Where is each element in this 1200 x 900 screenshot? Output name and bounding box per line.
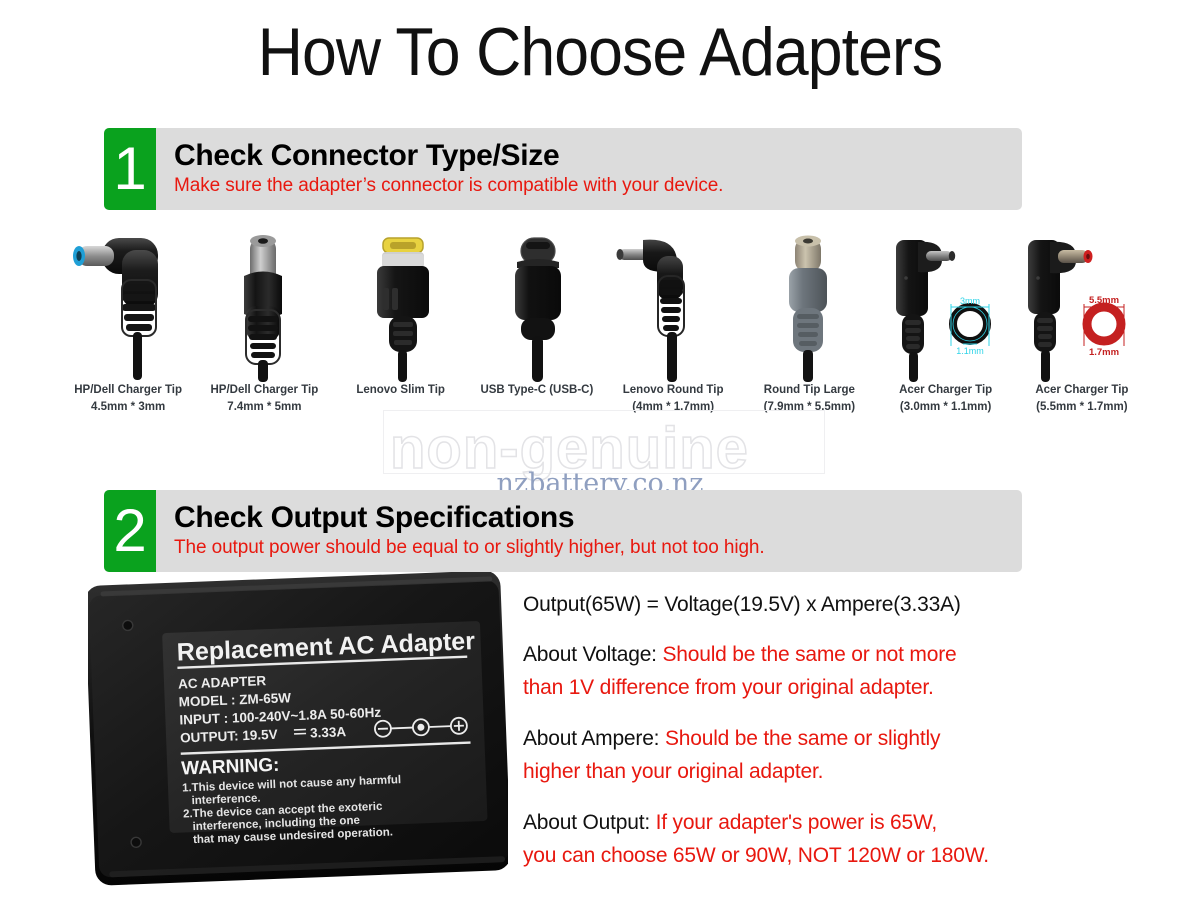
connector-label-name: HP/Dell Charger Tip bbox=[74, 382, 182, 399]
step-1-header: 1 Check Connector Type/Size Make sure th… bbox=[104, 128, 1022, 210]
connector-label-size: (5.5mm * 1.7mm) bbox=[1036, 399, 1127, 416]
hp-dell-blue-tip-icon bbox=[60, 232, 196, 382]
svg-text:3mm: 3mm bbox=[960, 296, 980, 306]
connector-item-acer-3_0[interactable]: 3mm 1.1mm Acer Charger Tip (3.0mm * 1.1m… bbox=[878, 232, 1014, 442]
step-2-text: Check Output Specifications The output p… bbox=[156, 490, 765, 572]
step-2-header: 2 Check Output Specifications The output… bbox=[104, 490, 1022, 572]
step-1-number-badge: 1 bbox=[104, 128, 156, 210]
connector-label-name: Acer Charger Tip bbox=[1035, 382, 1128, 399]
output-equation: Output(65W) = Voltage(19.5V) x Ampere(3.… bbox=[523, 590, 1183, 620]
page-title: How To Choose Adapters bbox=[48, 12, 1152, 92]
adapter-warning-heading: WARNING: bbox=[181, 755, 280, 780]
connector-label-size: (7.9mm * 5.5mm) bbox=[764, 399, 855, 416]
spec-voltage-line2: than 1V difference from your original ad… bbox=[523, 676, 934, 699]
connector-label-size: 7.4mm * 5mm bbox=[227, 399, 301, 416]
connector-label-name: USB Type-C (USB-C) bbox=[480, 382, 593, 399]
step-2-subtitle: The output power should be equal to or s… bbox=[174, 535, 765, 561]
adapter-line-output-amp: 3.33A bbox=[310, 724, 347, 740]
round-tip-large-gray-icon bbox=[741, 232, 877, 382]
connector-item-usb-c[interactable]: USB Type-C (USB-C) bbox=[469, 232, 605, 442]
svg-text:5.5mm: 5.5mm bbox=[1089, 295, 1119, 306]
spec-output-line2: you can choose 65W or 90W, NOT 120W or 1… bbox=[523, 844, 989, 867]
spec-about-voltage: About Voltage: Should be the same or not… bbox=[523, 638, 1183, 704]
step-2-number-badge: 2 bbox=[104, 490, 156, 572]
spec-ampere-line2: higher than your original adapter. bbox=[523, 760, 823, 783]
ac-adapter-photo: Replacement AC Adapter AC ADAPTER MODEL … bbox=[88, 572, 508, 892]
connector-label-name: HP/Dell Charger Tip bbox=[210, 382, 318, 399]
svg-text:1.1mm: 1.1mm bbox=[956, 346, 984, 356]
hp-dell-barrel-tip-icon bbox=[196, 232, 332, 382]
connector-item-lenovo-round[interactable]: Lenovo Round Tip (4mm * 1.7mm) bbox=[605, 232, 741, 442]
acer-angled-tip-icon: 3mm 1.1mm bbox=[878, 232, 1014, 382]
svg-text:1.7mm: 1.7mm bbox=[1089, 347, 1119, 358]
lenovo-slim-rectangular-tip-icon bbox=[333, 232, 469, 382]
connector-gallery: HP/Dell Charger Tip 4.5mm * 3mm bbox=[60, 232, 1150, 442]
spec-about-output: About Output: If your adapter's power is… bbox=[523, 806, 1183, 872]
connector-label-size: (3.0mm * 1.1mm) bbox=[900, 399, 991, 416]
connector-label-size: (4mm * 1.7mm) bbox=[632, 399, 714, 416]
spec-voltage-lead: About Voltage: bbox=[523, 643, 662, 666]
connector-item-round-large[interactable]: Round Tip Large (7.9mm * 5.5mm) bbox=[741, 232, 877, 442]
connector-label-name: Lenovo Round Tip bbox=[623, 382, 724, 399]
connector-label-size: 4.5mm * 3mm bbox=[91, 399, 165, 416]
step-1-title: Check Connector Type/Size bbox=[174, 139, 723, 173]
connector-label-name: Round Tip Large bbox=[764, 382, 855, 399]
connector-label-name: Lenovo Slim Tip bbox=[356, 382, 445, 399]
spec-ampere-line1: Should be the same or slightly bbox=[665, 727, 940, 750]
spec-ampere-lead: About Ampere: bbox=[523, 727, 665, 750]
step-1-text: Check Connector Type/Size Make sure the … bbox=[156, 128, 723, 210]
spec-about-ampere: About Ampere: Should be the same or slig… bbox=[523, 722, 1183, 788]
connector-item-hp-dell-7_4[interactable]: HP/Dell Charger Tip 7.4mm * 5mm bbox=[196, 232, 332, 442]
connector-item-lenovo-slim[interactable]: Lenovo Slim Tip bbox=[333, 232, 469, 442]
lenovo-round-angled-tip-icon bbox=[605, 232, 741, 382]
step-2-title: Check Output Specifications bbox=[174, 501, 765, 535]
connector-item-acer-5_5[interactable]: 5.5mm 1.7mm Acer Charger Tip (5.5mm * 1.… bbox=[1014, 232, 1150, 442]
step-1-subtitle: Make sure the adapter’s connector is com… bbox=[174, 173, 723, 199]
connector-label-name: Acer Charger Tip bbox=[899, 382, 992, 399]
acer-red-tip-icon: 5.5mm 1.7mm bbox=[1014, 232, 1150, 382]
spec-output-lead: About Output: bbox=[523, 811, 656, 834]
connector-item-hp-dell-4_5[interactable]: HP/Dell Charger Tip 4.5mm * 3mm bbox=[60, 232, 196, 442]
infographic-page: How To Choose Adapters 1 Check Connector… bbox=[0, 0, 1200, 900]
spec-output-line1: If your adapter's power is 65W, bbox=[656, 811, 937, 834]
usb-type-c-connector-icon bbox=[469, 232, 605, 382]
spec-voltage-line1: Should be the same or not more bbox=[662, 643, 956, 666]
